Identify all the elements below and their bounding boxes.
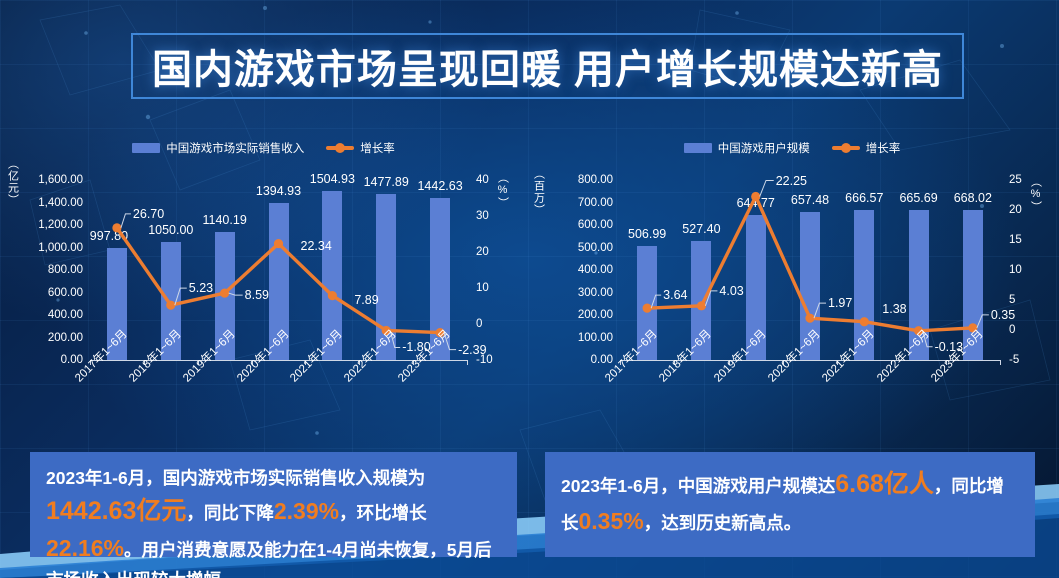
page-title: 国内游戏市场呈现回暖 用户增长规模达新高 <box>152 37 943 95</box>
title-banner: 国内游戏市场呈现回暖 用户增长规模达新高 <box>131 33 964 99</box>
y-axis-tick: 600.00 <box>48 287 83 299</box>
y2-axis-tick: 15 <box>1009 234 1022 246</box>
y2-axis-tick: 40 <box>476 174 489 186</box>
line-value-label: 1.97 <box>828 296 852 310</box>
line-swatch-icon <box>832 146 860 150</box>
y-axis-tick: 100.00 <box>578 332 613 344</box>
bar-value-label: 1442.63 <box>417 179 462 193</box>
bar-swatch-icon <box>132 143 160 153</box>
callout-users: 2023年1-6月，中国游戏用户规模达6.68亿人，同比增长0.35%，达到历史… <box>545 452 1035 557</box>
y-axis-tick: 800.00 <box>48 264 83 276</box>
y2-axis-tick: 20 <box>1009 204 1022 216</box>
bar-value-label: 666.57 <box>845 191 883 205</box>
line-value-label: 26.70 <box>133 207 164 221</box>
legend-label-line: 增长率 <box>360 140 395 156</box>
bar-value-label: 665.69 <box>899 191 937 205</box>
chart-revenue: 中国游戏市场实际销售收入 增长率 0.00200.00400.00600.008… <box>2 138 525 428</box>
legend-label-bar: 中国游戏市场实际销售收入 <box>166 140 304 156</box>
bar-swatch-icon <box>684 143 712 153</box>
y2-axis-tick: -5 <box>1009 354 1019 366</box>
line-value-label: -2.39 <box>458 343 487 357</box>
callout-highlight-growth: 0.35% <box>579 508 644 534</box>
legend-item-line[interactable]: 增长率 <box>832 140 901 156</box>
y-axis-tick: 800.00 <box>578 174 613 186</box>
line-value-label: 8.59 <box>245 288 269 302</box>
y-axis-tick: 200.00 <box>48 332 83 344</box>
y-axis-tick: 600.00 <box>578 219 613 231</box>
y-axis-tick: 1,000.00 <box>38 242 83 254</box>
callout-text: ，环比增长 <box>339 503 427 523</box>
legend-item-bar[interactable]: 中国游戏市场实际销售收入 <box>132 140 304 156</box>
line-value-label: 22.25 <box>776 174 807 188</box>
bar-value-label: 1477.89 <box>364 175 409 189</box>
line-value-label: 1.38 <box>882 302 906 316</box>
callout-text: ，达到历史新高点。 <box>644 513 802 533</box>
y-axis-tick: 400.00 <box>48 309 83 321</box>
label-leader-line <box>760 181 774 197</box>
y2-axis-tick: 0 <box>476 318 482 330</box>
callout-text: ，同比下降 <box>186 503 274 523</box>
y2-axis-tick: 20 <box>476 246 489 258</box>
y2-axis-tick: 10 <box>1009 264 1022 276</box>
y-axis-tick: 400.00 <box>578 264 613 276</box>
y2-axis-unit-revenue: （%） <box>496 172 508 209</box>
line-value-label: 5.23 <box>189 281 213 295</box>
y-axis-unit-revenue: （亿元） <box>6 158 18 206</box>
legend-item-bar[interactable]: 中国游戏用户规模 <box>684 140 810 156</box>
bar-value-label: 1050.00 <box>148 223 193 237</box>
callout-highlight-yoy: 2.39% <box>274 498 339 524</box>
bar-value-label: 527.40 <box>682 222 720 236</box>
y2-axis-tick: 25 <box>1009 174 1022 186</box>
bar-value-label: 1140.19 <box>203 213 247 227</box>
line-value-label: 22.34 <box>301 239 332 253</box>
line-value-label: 4.03 <box>719 284 743 298</box>
callout-highlight-revenue: 1442.63亿元 <box>46 497 186 525</box>
legend-label-line: 增长率 <box>866 140 901 156</box>
y-axis-tick: 300.00 <box>578 287 613 299</box>
y2-axis-tick: 0 <box>1009 324 1015 336</box>
y-axis-tick: 700.00 <box>578 197 613 209</box>
line-swatch-icon <box>326 146 354 150</box>
callout-highlight-qoq: 22.16% <box>46 535 124 561</box>
y-axis-unit-users: （百万） <box>532 168 544 216</box>
y2-axis-unit-users: （%） <box>1029 176 1041 213</box>
bar-value-label: 997.80 <box>90 229 128 243</box>
bar-value-label: 644.77 <box>737 196 775 210</box>
bar-value-label: 1504.93 <box>310 172 355 186</box>
callout-text: 2023年1-6月，中国游戏用户规模达 <box>561 476 835 496</box>
legend-revenue: 中国游戏市场实际销售收入 增长率 <box>2 138 525 158</box>
chart-users: 中国游戏用户规模 增长率 0.00100.00200.00300.00400.0… <box>528 138 1056 428</box>
y-axis-tick: 200.00 <box>578 309 613 321</box>
y-axis-tick: 500.00 <box>578 242 613 254</box>
y-axis-tick: 1,400.00 <box>38 197 83 209</box>
y-axis-tick: 1,200.00 <box>38 219 83 231</box>
y2-axis-tick: 10 <box>476 282 489 294</box>
x-axis-tickmark <box>1000 360 1001 365</box>
callout-revenue: 2023年1-6月，国内游戏市场实际销售收入规模为1442.63亿元，同比下降2… <box>30 452 517 557</box>
y2-axis-tick: 5 <box>1009 294 1015 306</box>
line-value-label: 3.64 <box>663 288 687 302</box>
callout-text: 2023年1-6月，国内游戏市场实际销售收入规模为 <box>46 468 425 488</box>
legend-label-bar: 中国游戏用户规模 <box>718 140 810 156</box>
slide-canvas: 国内游戏市场呈现回暖 用户增长规模达新高 中国游戏市场实际销售收入 增长率 0.… <box>0 0 1059 578</box>
bar-value-label: 1394.93 <box>256 184 301 198</box>
legend-users: 中国游戏用户规模 增长率 <box>528 138 1056 158</box>
x-axis-tickmark <box>467 360 468 365</box>
y2-axis-tick: 30 <box>476 210 489 222</box>
bar-value-label: 668.02 <box>954 191 992 205</box>
label-leader-line <box>121 214 131 228</box>
callout-highlight-users: 6.68亿人 <box>835 470 934 498</box>
legend-item-line[interactable]: 增长率 <box>326 140 395 156</box>
line-value-label: 0.35 <box>991 308 1015 322</box>
line-value-label: 7.89 <box>354 293 378 307</box>
y-axis-tick: 1,600.00 <box>38 174 83 186</box>
bar-value-label: 506.99 <box>628 227 666 241</box>
bar-value-label: 657.48 <box>791 193 829 207</box>
